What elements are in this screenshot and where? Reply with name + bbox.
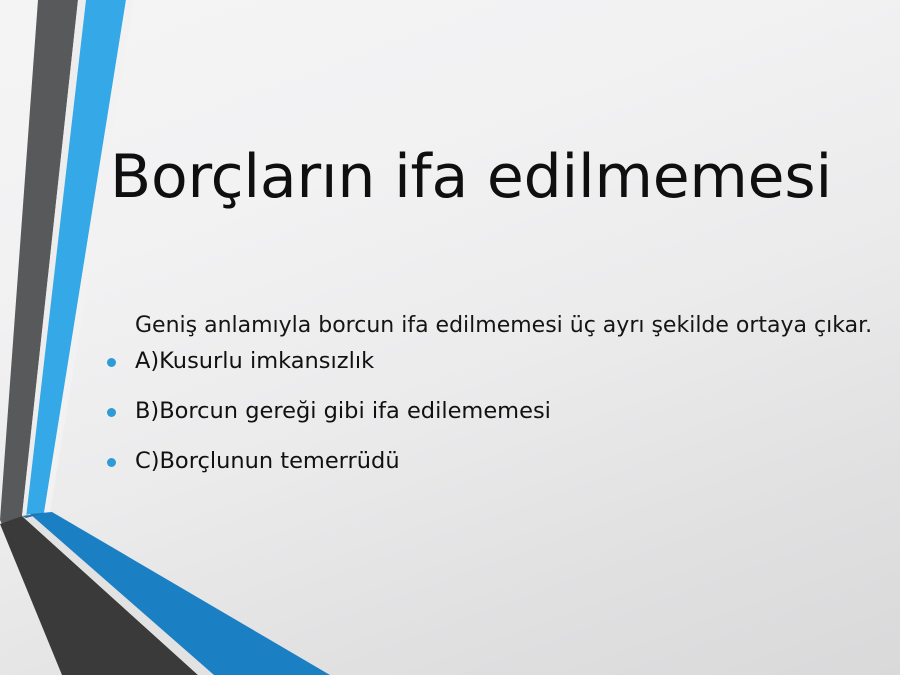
list-item-label: C)Borçlunun temerrüdü (135, 448, 400, 474)
stripe-gap-lower (22, 514, 214, 675)
bullet-list: A)Kusurlu imkansızlık B)Borcun gereği gi… (104, 347, 874, 477)
body-paragraph: Geniş anlamıyla borcun ifa edilmemesi üç… (104, 312, 874, 341)
slide-title: Borçların ifa edilmemesi (110, 144, 870, 211)
stripe-gray-lower (0, 516, 198, 675)
list-item: C)Borçlunun temerrüdü (104, 447, 874, 476)
list-item: B)Borcun gereği gibi ifa edilememesi (104, 397, 874, 426)
stripe-blue-lower (30, 512, 330, 675)
presentation-slide: Borçların ifa edilmemesi Geniş anlamıyla… (0, 0, 900, 675)
bullet-dot-icon (107, 358, 116, 367)
list-item-label: A)Kusurlu imkansızlık (135, 348, 374, 374)
stripe-gray-upper (0, 0, 78, 524)
stripe-vertex-shadow (22, 512, 52, 518)
slide-body: Geniş anlamıyla borcun ifa edilmemesi üç… (104, 312, 874, 497)
list-item: A)Kusurlu imkansızlık (104, 347, 874, 376)
bullet-dot-icon (107, 458, 116, 467)
stripe-gap-upper (22, 0, 86, 518)
list-item-label: B)Borcun gereği gibi ifa edilememesi (135, 398, 551, 424)
bullet-dot-icon (107, 408, 116, 417)
